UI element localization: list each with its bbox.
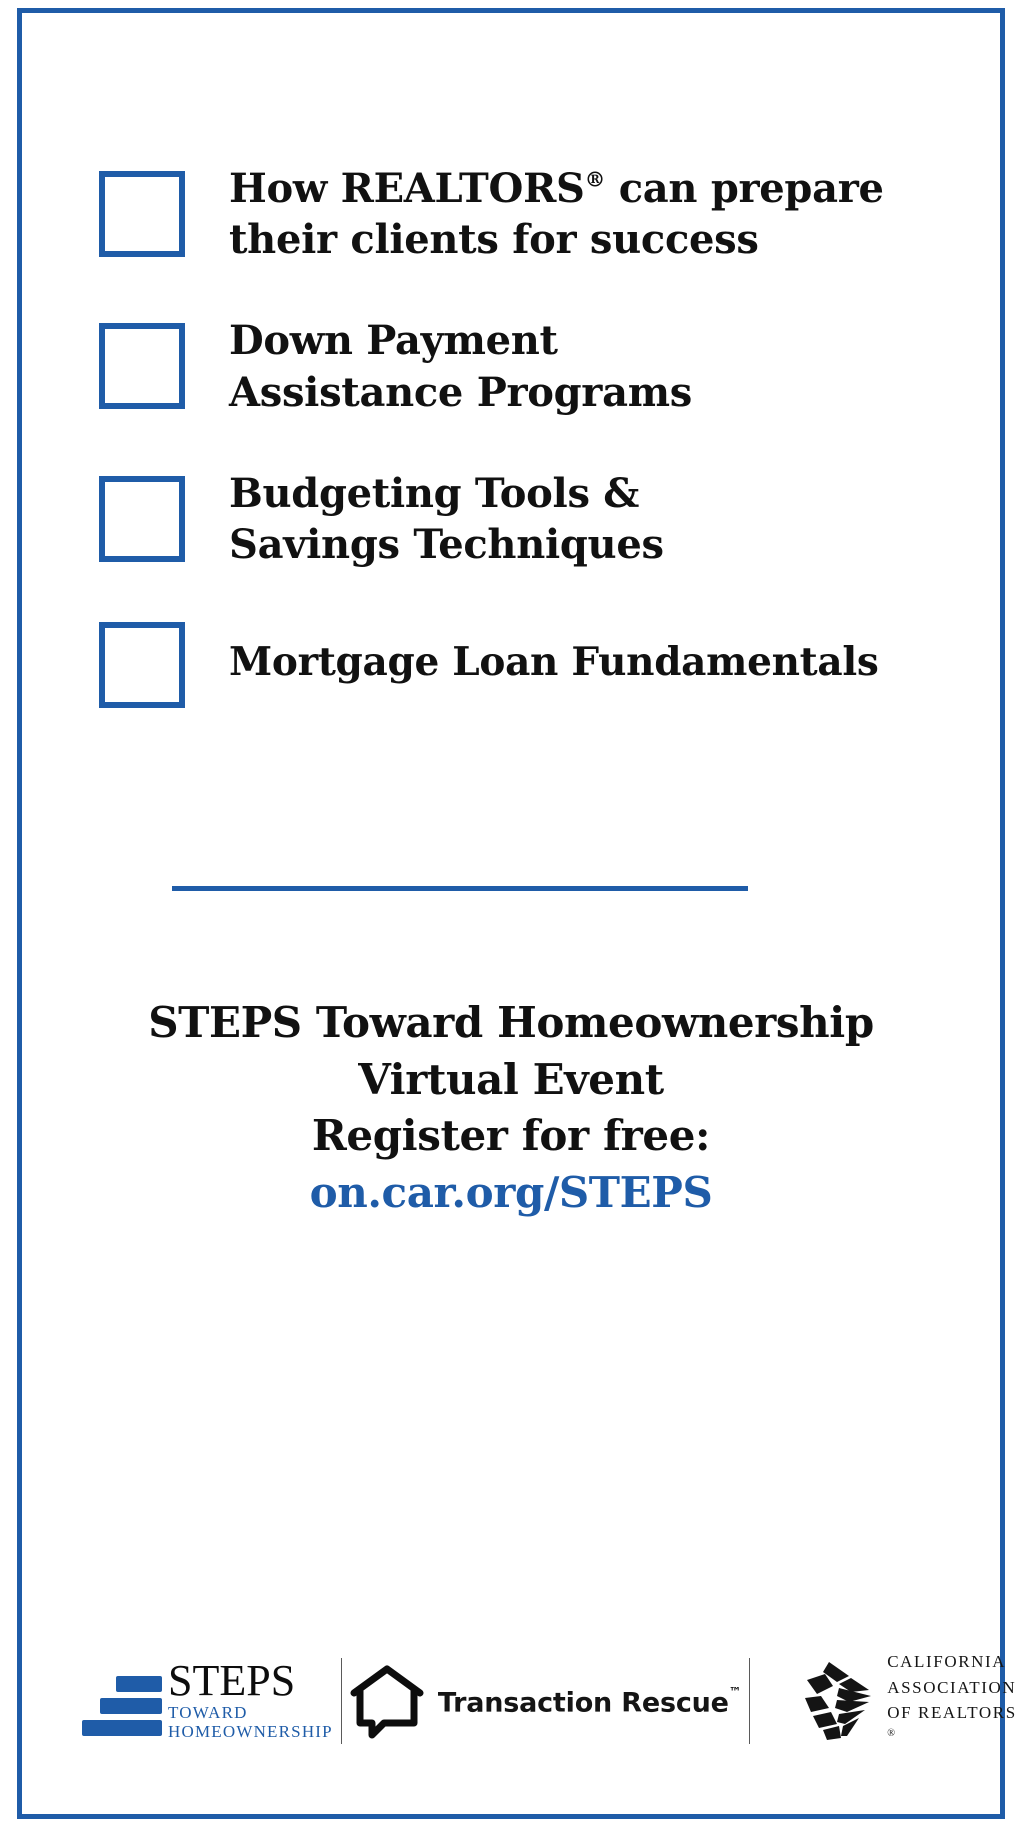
steps-logo: STEPS TOWARD HOMEOWNERSHIP [82,1641,333,1761]
california-association-of-realtors-mark-icon [799,1660,873,1742]
event-title: STEPS Toward Homeownership [22,995,1000,1052]
car-line-1: CALIFORNIA [887,1649,1017,1675]
registered-trademark-icon: ® [585,166,606,191]
registration-link[interactable]: on.car.org/STEPS [22,1165,1000,1222]
checklist-item-label: Budgeting Tools & Savings Techniques [229,468,664,570]
checkbox-icon[interactable] [99,171,185,257]
car-line-3: OF REALTORS [887,1700,1017,1726]
checkbox-icon[interactable] [99,622,185,708]
checklist-item-line1: Down Payment [229,317,558,364]
checklist-item-line1-lead: How REALTORS [229,165,585,212]
trademark-icon: ™ [729,1684,741,1699]
checklist-item-label: Mortgage Loan Fundamentals [229,618,879,688]
flyer-content: How REALTORS® can prepare their clients … [22,13,1000,1814]
car-logo: CALIFORNIA ASSOCIATION OF REALTORS® [758,1641,1021,1761]
transaction-rescue-name: Transaction Rescue [438,1687,729,1718]
footer-logo-bar: STEPS TOWARD HOMEOWNERSHIP [82,1641,962,1761]
stair-bar-top [116,1676,162,1692]
checklist-item-line2: their clients for success [229,216,759,263]
house-speech-bubble-icon [350,1663,424,1739]
steps-logo-wordmark: STEPS [168,1660,333,1702]
stair-bar-middle [100,1698,162,1714]
stair-steps-icon [82,1674,162,1738]
steps-logo-tagline-2: HOMEOWNERSHIP [168,1722,333,1742]
flyer-border-frame: How REALTORS® can prepare their clients … [17,8,1005,1819]
checkbox-icon[interactable] [99,476,185,562]
horizontal-rule [172,886,748,891]
checkbox-icon[interactable] [99,323,185,409]
checklist-item-line1: Mortgage Loan Fundamentals [229,639,879,685]
checklist: How REALTORS® can prepare their clients … [99,163,929,708]
event-subtitle: Virtual Event [22,1052,1000,1109]
registered-trademark-icon: ® [887,1728,895,1739]
checklist-item[interactable]: Down Payment Assistance Programs [99,315,929,417]
transaction-rescue-wordmark: Transaction Rescue™ [438,1684,741,1719]
car-line-3-wrap: OF REALTORS® [887,1700,1017,1752]
checklist-item[interactable]: How REALTORS® can prepare their clients … [99,163,929,265]
checklist-item-line1-tail: can prepare [605,165,884,212]
checklist-item-line2: Assistance Programs [229,369,692,416]
checklist-item-line1: Budgeting Tools & [229,470,639,517]
checklist-item[interactable]: Budgeting Tools & Savings Techniques [99,468,929,570]
car-wordmark: CALIFORNIA ASSOCIATION OF REALTORS® [887,1649,1017,1752]
stair-bar-bottom [82,1720,162,1736]
transaction-rescue-logo: Transaction Rescue™ [350,1641,741,1761]
steps-logo-tagline-1: TOWARD [168,1703,333,1723]
footer-divider [749,1658,750,1744]
checklist-item-label: How REALTORS® can prepare their clients … [229,163,884,265]
car-line-2: ASSOCIATION [887,1675,1017,1701]
event-details: STEPS Toward Homeownership Virtual Event… [22,995,1000,1222]
flyer-canvas: How REALTORS® can prepare their clients … [0,0,1021,1827]
event-register-prompt: Register for free: [22,1108,1000,1165]
footer-divider [341,1658,342,1744]
checklist-item[interactable]: Mortgage Loan Fundamentals [99,618,929,708]
checklist-item-label: Down Payment Assistance Programs [229,315,692,417]
checklist-item-line2: Savings Techniques [229,521,664,568]
